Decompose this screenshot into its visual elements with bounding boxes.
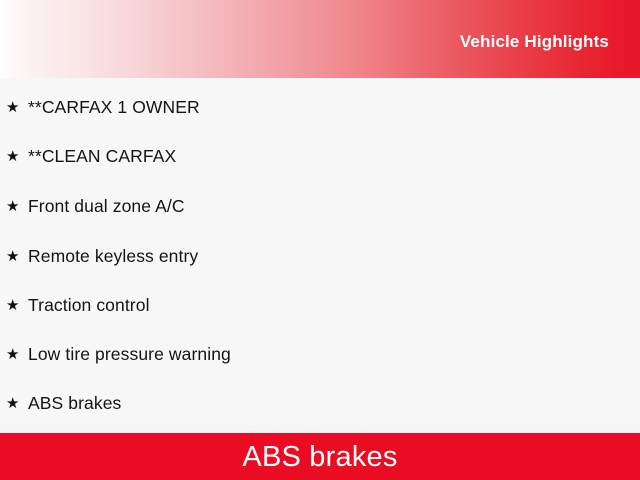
star-icon: ★ — [6, 294, 28, 316]
caption-banner: ABS brakes — [0, 433, 640, 480]
list-item: ★ Remote keyless entry — [0, 245, 640, 267]
list-item-label: ABS brakes — [28, 392, 640, 414]
star-icon: ★ — [6, 195, 28, 217]
caption-label: ABS brakes — [242, 440, 397, 474]
list-item: ★ **CLEAN CARFAX — [0, 145, 640, 167]
list-item: ★ **CARFAX 1 OWNER — [0, 96, 640, 118]
star-icon: ★ — [6, 245, 28, 267]
list-item-label: Traction control — [28, 294, 640, 316]
star-icon: ★ — [6, 343, 28, 365]
list-item-label: Low tire pressure warning — [28, 343, 640, 365]
list-item-label: **CLEAN CARFAX — [28, 145, 640, 167]
list-item-label: **CARFAX 1 OWNER — [28, 96, 640, 118]
page-title: Vehicle Highlights — [460, 31, 609, 53]
list-item: ★ Front dual zone A/C — [0, 195, 640, 217]
star-icon: ★ — [6, 96, 28, 118]
list-item: ★ Traction control — [0, 294, 640, 316]
list-item-label: Remote keyless entry — [28, 245, 640, 267]
vehicle-highlights-list: ★ **CARFAX 1 OWNER ★ **CLEAN CARFAX ★ Fr… — [0, 78, 640, 433]
list-item: ★ Low tire pressure warning — [0, 343, 640, 365]
list-item-label: Front dual zone A/C — [28, 195, 640, 217]
list-item: ★ ABS brakes — [0, 392, 640, 414]
header-band: Vehicle Highlights — [0, 0, 640, 78]
star-icon: ★ — [6, 392, 28, 414]
star-icon: ★ — [6, 145, 28, 167]
vehicle-highlights-card: Vehicle Highlights ★ **CARFAX 1 OWNER ★ … — [0, 0, 640, 480]
